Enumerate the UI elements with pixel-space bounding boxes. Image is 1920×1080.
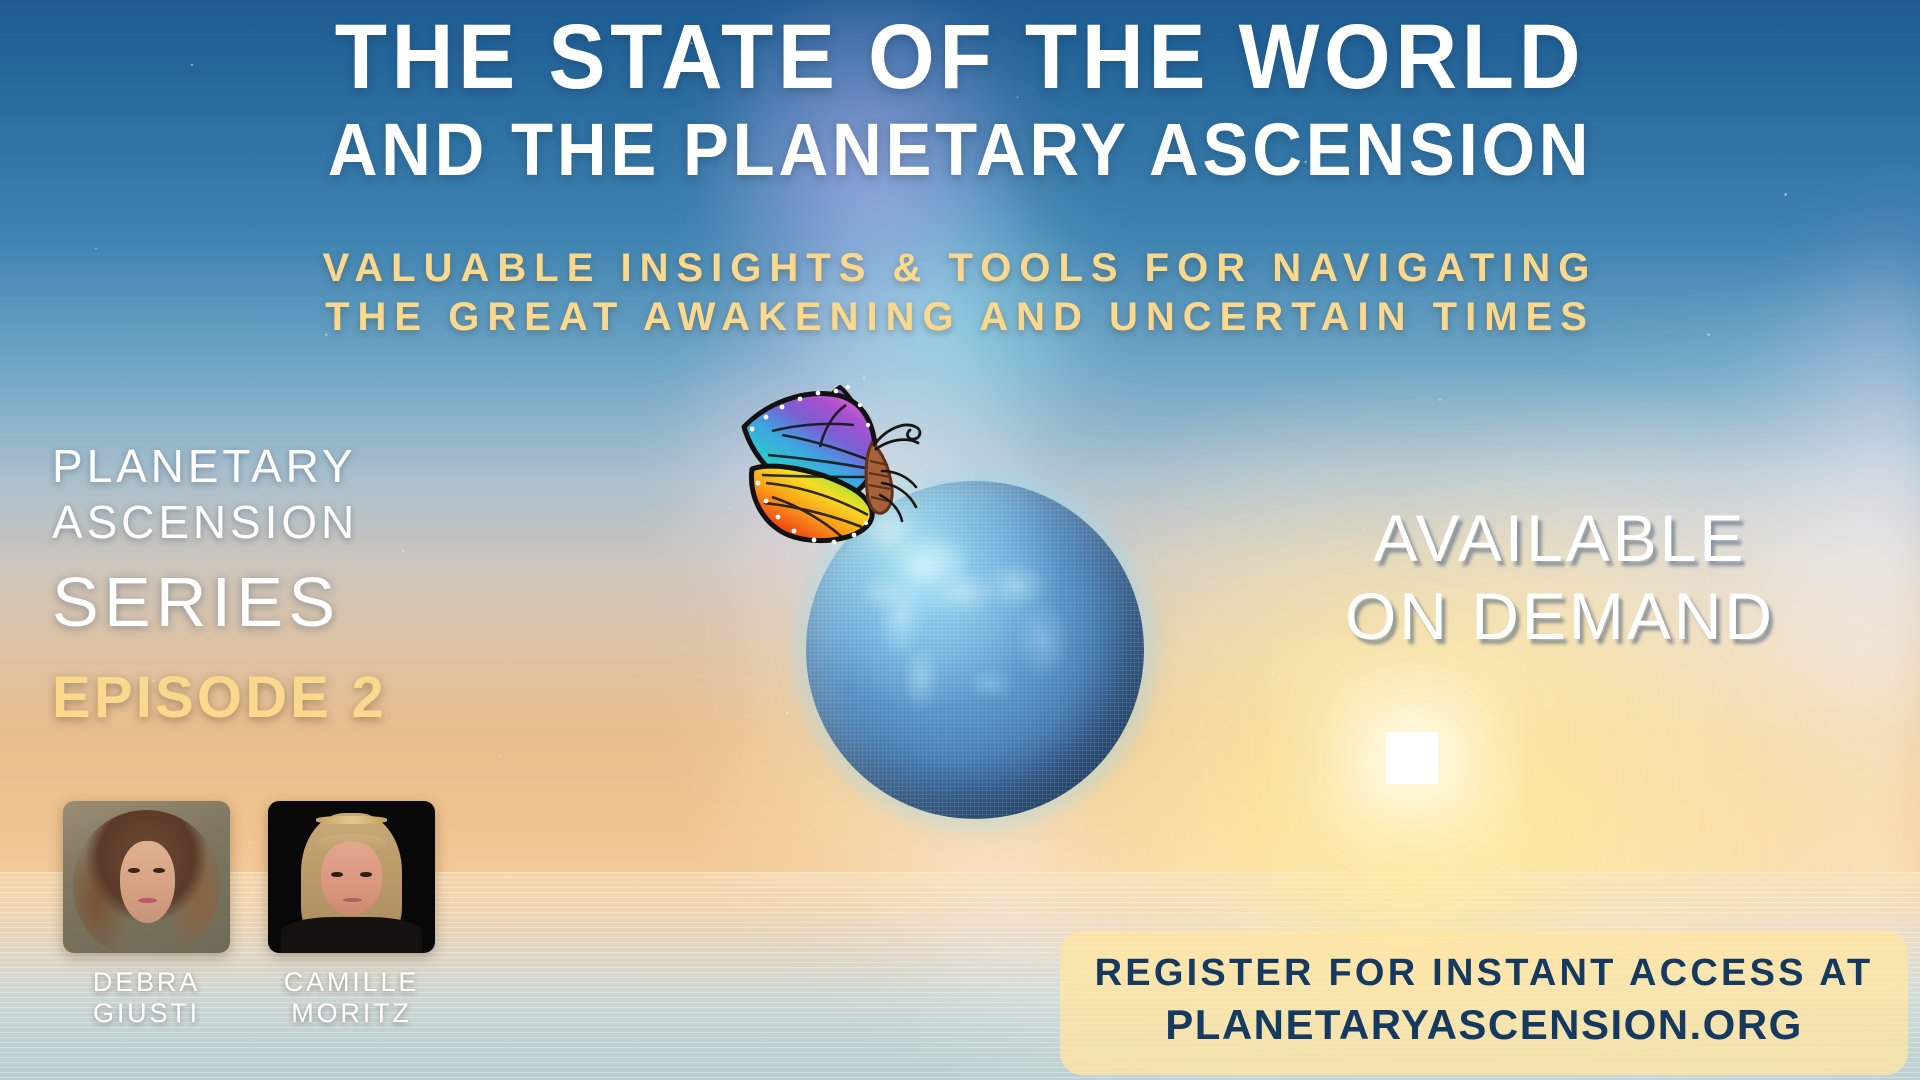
speaker-photo-camille-moritz: [268, 801, 435, 953]
speaker-name-camille-moritz: CAMILLE MORITZ: [268, 967, 435, 1030]
avatar: [63, 801, 230, 953]
availability-line-1: AVAILABLE: [1300, 500, 1820, 578]
face-shape: [120, 841, 175, 923]
speaker-last-name: GIUSTI: [63, 998, 230, 1029]
speaker-photo-debra-giusti: [63, 801, 230, 953]
shoulders-shape: [281, 917, 421, 953]
speakers-list: DEBRA GIUSTI CAMILLE MORITZ: [63, 801, 435, 1030]
eye-right: [360, 872, 372, 877]
speaker-card-debra-giusti: DEBRA GIUSTI: [63, 801, 230, 1030]
subheadline-line-1: VALUABLE INSIGHTS & TOOLS FOR NAVIGATING: [0, 244, 1920, 293]
headline-line-2: AND THE PLANETARY ASCENSION: [67, 115, 1853, 185]
series-name-line-3: SERIES: [52, 564, 387, 641]
headband-shape: [316, 816, 386, 824]
series-info-block: PLANETARY ASCENSION SERIES EPISODE 2: [52, 438, 387, 727]
eye-left: [331, 872, 343, 877]
speaker-name-debra-giusti: DEBRA GIUSTI: [63, 967, 230, 1030]
availability-block: AVAILABLE ON DEMAND: [1300, 500, 1820, 656]
subheadline-block: VALUABLE INSIGHTS & TOOLS FOR NAVIGATING…: [0, 244, 1920, 342]
rainbow-butterfly-icon: [722, 365, 952, 570]
series-name-line-2: ASCENSION: [52, 494, 387, 550]
availability-line-2: ON DEMAND: [1300, 578, 1820, 656]
register-cta-line-1: REGISTER FOR INSTANT ACCESS AT: [1084, 949, 1884, 998]
avatar: [268, 801, 435, 953]
register-cta-url[interactable]: PLANETARYASCENSION.ORG: [1084, 998, 1884, 1053]
speaker-first-name: CAMILLE: [268, 967, 435, 998]
headline-block: THE STATE OF THE WORLD AND THE PLANETARY…: [0, 14, 1920, 186]
episode-label: EPISODE 2: [52, 669, 387, 727]
promo-banner: THE STATE OF THE WORLD AND THE PLANETARY…: [0, 0, 1920, 1080]
eye-left: [128, 868, 140, 873]
subheadline-line-2: THE GREAT AWAKENING AND UNCERTAIN TIMES: [0, 293, 1920, 342]
register-cta-box[interactable]: REGISTER FOR INSTANT ACCESS AT PLANETARY…: [1060, 931, 1908, 1075]
speaker-last-name: MORITZ: [268, 998, 435, 1029]
speaker-card-camille-moritz: CAMILLE MORITZ: [268, 801, 435, 1030]
speaker-first-name: DEBRA: [63, 967, 230, 998]
face-shape: [321, 842, 381, 915]
eye-right: [153, 868, 165, 873]
series-name-line-1: PLANETARY: [52, 438, 387, 494]
headline-line-1: THE STATE OF THE WORLD: [67, 14, 1853, 101]
